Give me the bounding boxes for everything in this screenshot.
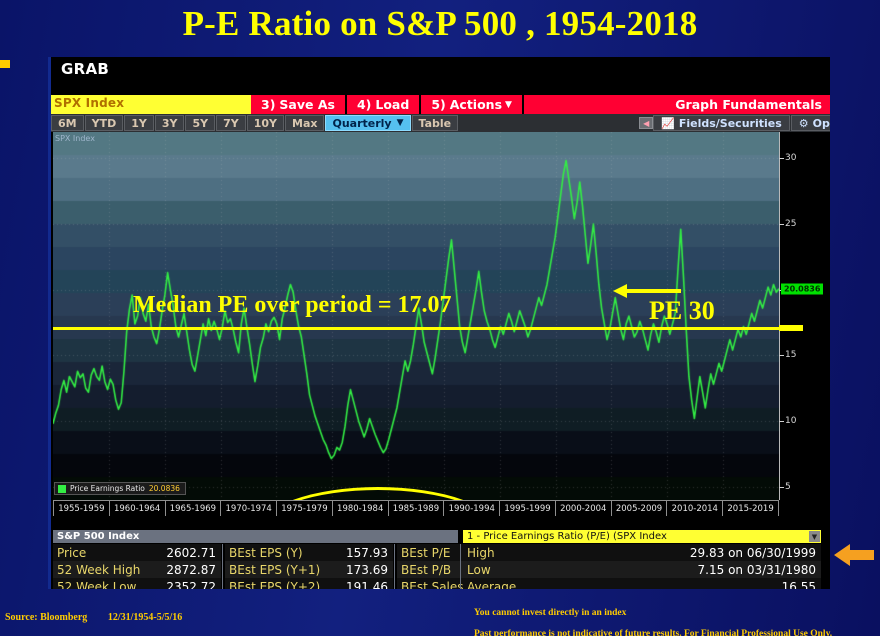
- left-yellow-tab: [0, 60, 10, 68]
- data-panel-header-left-text: S&P 500 Index: [53, 530, 458, 543]
- table-button[interactable]: Table: [412, 115, 459, 131]
- y-axis-tick: 5: [785, 482, 791, 492]
- table-row: 52 Week Low 2352.72: [53, 578, 221, 589]
- table-row: Price 2602.71: [53, 544, 221, 561]
- orange-pointer-arrow-icon: [832, 540, 876, 570]
- y-axis-tick: 25: [785, 219, 796, 229]
- annotation-median-pe: Median PE over period = 17.07: [133, 292, 452, 319]
- options-button[interactable]: ⚙ Options: [791, 115, 830, 131]
- period-7y[interactable]: 7Y: [216, 115, 246, 131]
- x-axis-tick-label: 1980-1984: [333, 501, 389, 516]
- actions-number: 5): [431, 97, 445, 112]
- row-label: BEst Sales: [397, 580, 464, 590]
- save-as-label: Save As: [279, 97, 335, 112]
- x-axis-tick-label: 1975-1979: [277, 501, 333, 516]
- x-axis-tick-label: 2005-2009: [612, 501, 668, 516]
- row-label: High: [463, 546, 495, 560]
- x-axis-tick-label: 1960-1964: [110, 501, 166, 516]
- table-row: Average 16.55: [463, 578, 821, 589]
- column-separator: [394, 544, 395, 589]
- x-axis-tick-label: 1985-1989: [389, 501, 445, 516]
- row-value: 173.69: [346, 563, 393, 577]
- row-value: 2872.87: [166, 563, 221, 577]
- table-row: BEst EPS (Y) 157.93: [225, 544, 393, 561]
- x-axis-tick-label: 1990-1994: [444, 501, 500, 516]
- command-row: SPX Index 3) Save As 4) Load 5) Actions …: [51, 95, 830, 114]
- row-label: 52 Week Low: [53, 580, 136, 590]
- grab-label: GRAB: [61, 60, 109, 78]
- data-panel-header-right[interactable]: 1 - Price Earnings Ratio (P/E) (SPX Inde…: [463, 530, 821, 543]
- row-value: 7.15 on 03/31/1980: [698, 563, 821, 577]
- row-label: Low: [463, 563, 491, 577]
- y-axis: 51015202530: [779, 132, 830, 500]
- fields-securities-button[interactable]: 📈 Fields/Securities: [653, 115, 790, 131]
- slide-title: P-E Ratio on S&P 500 , 1954-2018: [0, 4, 880, 44]
- frequency-label: Quarterly: [332, 117, 391, 130]
- toolbar-spacer: ◀: [459, 114, 653, 132]
- load-number: 4): [357, 97, 371, 112]
- source-line: Source: Bloomberg 12/31/1954-5/5/16: [5, 612, 182, 623]
- scroll-left-icon[interactable]: ◀: [639, 117, 653, 129]
- y-axis-tick: 15: [785, 350, 796, 360]
- x-axis-tick-label: 1970-1974: [221, 501, 277, 516]
- x-axis-tick-label: 2015-2019: [723, 501, 779, 516]
- period-3y[interactable]: 3Y: [155, 115, 185, 131]
- median-value-flag: [779, 325, 803, 331]
- row-label: BEst P/E: [397, 546, 450, 560]
- grab-bar: GRAB: [51, 57, 830, 95]
- y-axis-tick: 10: [785, 416, 796, 426]
- legend-series-name: Price Earnings Ratio: [70, 484, 145, 493]
- gear-icon: ⚙: [799, 117, 809, 130]
- chevron-down-icon: ▼: [397, 118, 404, 128]
- source-date-range: 12/31/1954-5/5/16: [108, 612, 182, 623]
- period-5y[interactable]: 5Y: [185, 115, 215, 131]
- slide-root: P-E Ratio on S&P 500 , 1954-2018 GRAB SP…: [0, 0, 880, 636]
- data-column-price: Price 2602.71 52 Week High 2872.87 52 We…: [53, 544, 221, 589]
- save-as-button[interactable]: 3) Save As: [251, 95, 347, 114]
- fundamentals-data-panel: S&P 500 Index 1 - Price Earnings Ratio (…: [51, 530, 830, 589]
- column-separator: [460, 544, 461, 589]
- source-label: Source: Bloomberg: [5, 612, 87, 623]
- row-value: 157.93: [346, 546, 393, 560]
- data-panel-header-right-text: 1 - Price Earnings Ratio (P/E) (SPX Inde…: [463, 531, 667, 542]
- period-6m[interactable]: 6M: [51, 115, 84, 131]
- row-value: 2352.72: [166, 580, 221, 590]
- median-reference-line: [53, 327, 779, 330]
- row-value: 29.83 on 06/30/1999: [690, 546, 821, 560]
- row-label: Average: [463, 580, 516, 590]
- chevron-down-icon[interactable]: ▼: [809, 531, 820, 542]
- x-axis-tick-label: 2010-2014: [667, 501, 723, 516]
- chevron-down-icon: ▼: [505, 100, 512, 110]
- ticker-input[interactable]: SPX Index: [51, 95, 251, 114]
- chart-panel[interactable]: SPX Index 51015202530 20.0836 Price Earn…: [51, 132, 830, 530]
- period-toolbar: 6M YTD 1Y 3Y 5Y 7Y 10Y Max Quarterly ▼ T…: [51, 114, 830, 132]
- row-label: 52 Week High: [53, 563, 140, 577]
- data-panel-header-left: S&P 500 Index: [53, 530, 458, 543]
- period-max[interactable]: Max: [285, 115, 324, 131]
- legend-series-value: 20.0836: [149, 484, 180, 493]
- y-axis-tick: 30: [785, 153, 796, 163]
- disclaimer-line-1: You cannot invest directly in an index: [474, 608, 626, 618]
- x-axis-tick-label: 1965-1969: [166, 501, 222, 516]
- row-label: BEst EPS (Y): [225, 546, 303, 560]
- x-axis-tick-label: 1995-1999: [500, 501, 556, 516]
- options-label: Options: [813, 117, 830, 130]
- period-10y[interactable]: 10Y: [247, 115, 284, 131]
- table-row: Low 7.15 on 03/31/1980: [463, 561, 821, 578]
- row-label: BEst EPS (Y+1): [225, 563, 320, 577]
- row-label: BEst EPS (Y+2): [225, 580, 320, 590]
- row-label: BEst P/B: [397, 563, 451, 577]
- row-value: 2602.71: [166, 546, 221, 560]
- disclaimer-line-2: Past performance is not indicative of fu…: [474, 629, 832, 636]
- table-row: BEst EPS (Y+1) 173.69: [225, 561, 393, 578]
- chart-legend: Price Earnings Ratio 20.0836: [54, 482, 186, 495]
- graph-fundamentals-title: Graph Fundamentals: [524, 95, 830, 114]
- frequency-dropdown[interactable]: Quarterly ▼: [325, 115, 410, 131]
- x-axis-tick-label: 1955-1959: [53, 501, 110, 516]
- chart-icon: 📈: [661, 117, 675, 130]
- load-button[interactable]: 4) Load: [347, 95, 421, 114]
- period-1y[interactable]: 1Y: [124, 115, 154, 131]
- table-row: 52 Week High 2872.87: [53, 561, 221, 578]
- fields-securities-label: Fields/Securities: [679, 117, 782, 130]
- bloomberg-terminal-window: GRAB SPX Index 3) Save As 4) Load 5) Act…: [48, 57, 830, 589]
- save-as-number: 3): [261, 97, 275, 112]
- column-separator: [222, 544, 223, 589]
- table-row: BEst EPS (Y+2) 191.46: [225, 578, 393, 589]
- period-ytd[interactable]: YTD: [85, 115, 124, 131]
- row-value: 16.55: [782, 580, 821, 590]
- actions-menu-button[interactable]: 5) Actions ▼: [421, 95, 524, 114]
- data-column-eps: BEst EPS (Y) 157.93 BEst EPS (Y+1) 173.6…: [225, 544, 393, 589]
- current-value-flag: 20.0836: [781, 283, 823, 294]
- load-label: Load: [375, 97, 409, 112]
- legend-color-swatch: [58, 485, 66, 493]
- x-axis-tick-label: 2000-2004: [556, 501, 612, 516]
- chart-corner-label: SPX Index: [55, 134, 95, 143]
- row-label: Price: [53, 546, 86, 560]
- actions-label: Actions: [450, 97, 502, 112]
- table-row: High 29.83 on 06/30/1999: [463, 544, 821, 561]
- annotation-left-arrow-icon: [611, 282, 683, 302]
- data-column-pe-stats: High 29.83 on 06/30/1999 Low 7.15 on 03/…: [463, 544, 821, 589]
- x-axis: 1955-19591960-19641965-19691970-19741975…: [53, 500, 779, 516]
- row-value: 191.46: [346, 580, 393, 590]
